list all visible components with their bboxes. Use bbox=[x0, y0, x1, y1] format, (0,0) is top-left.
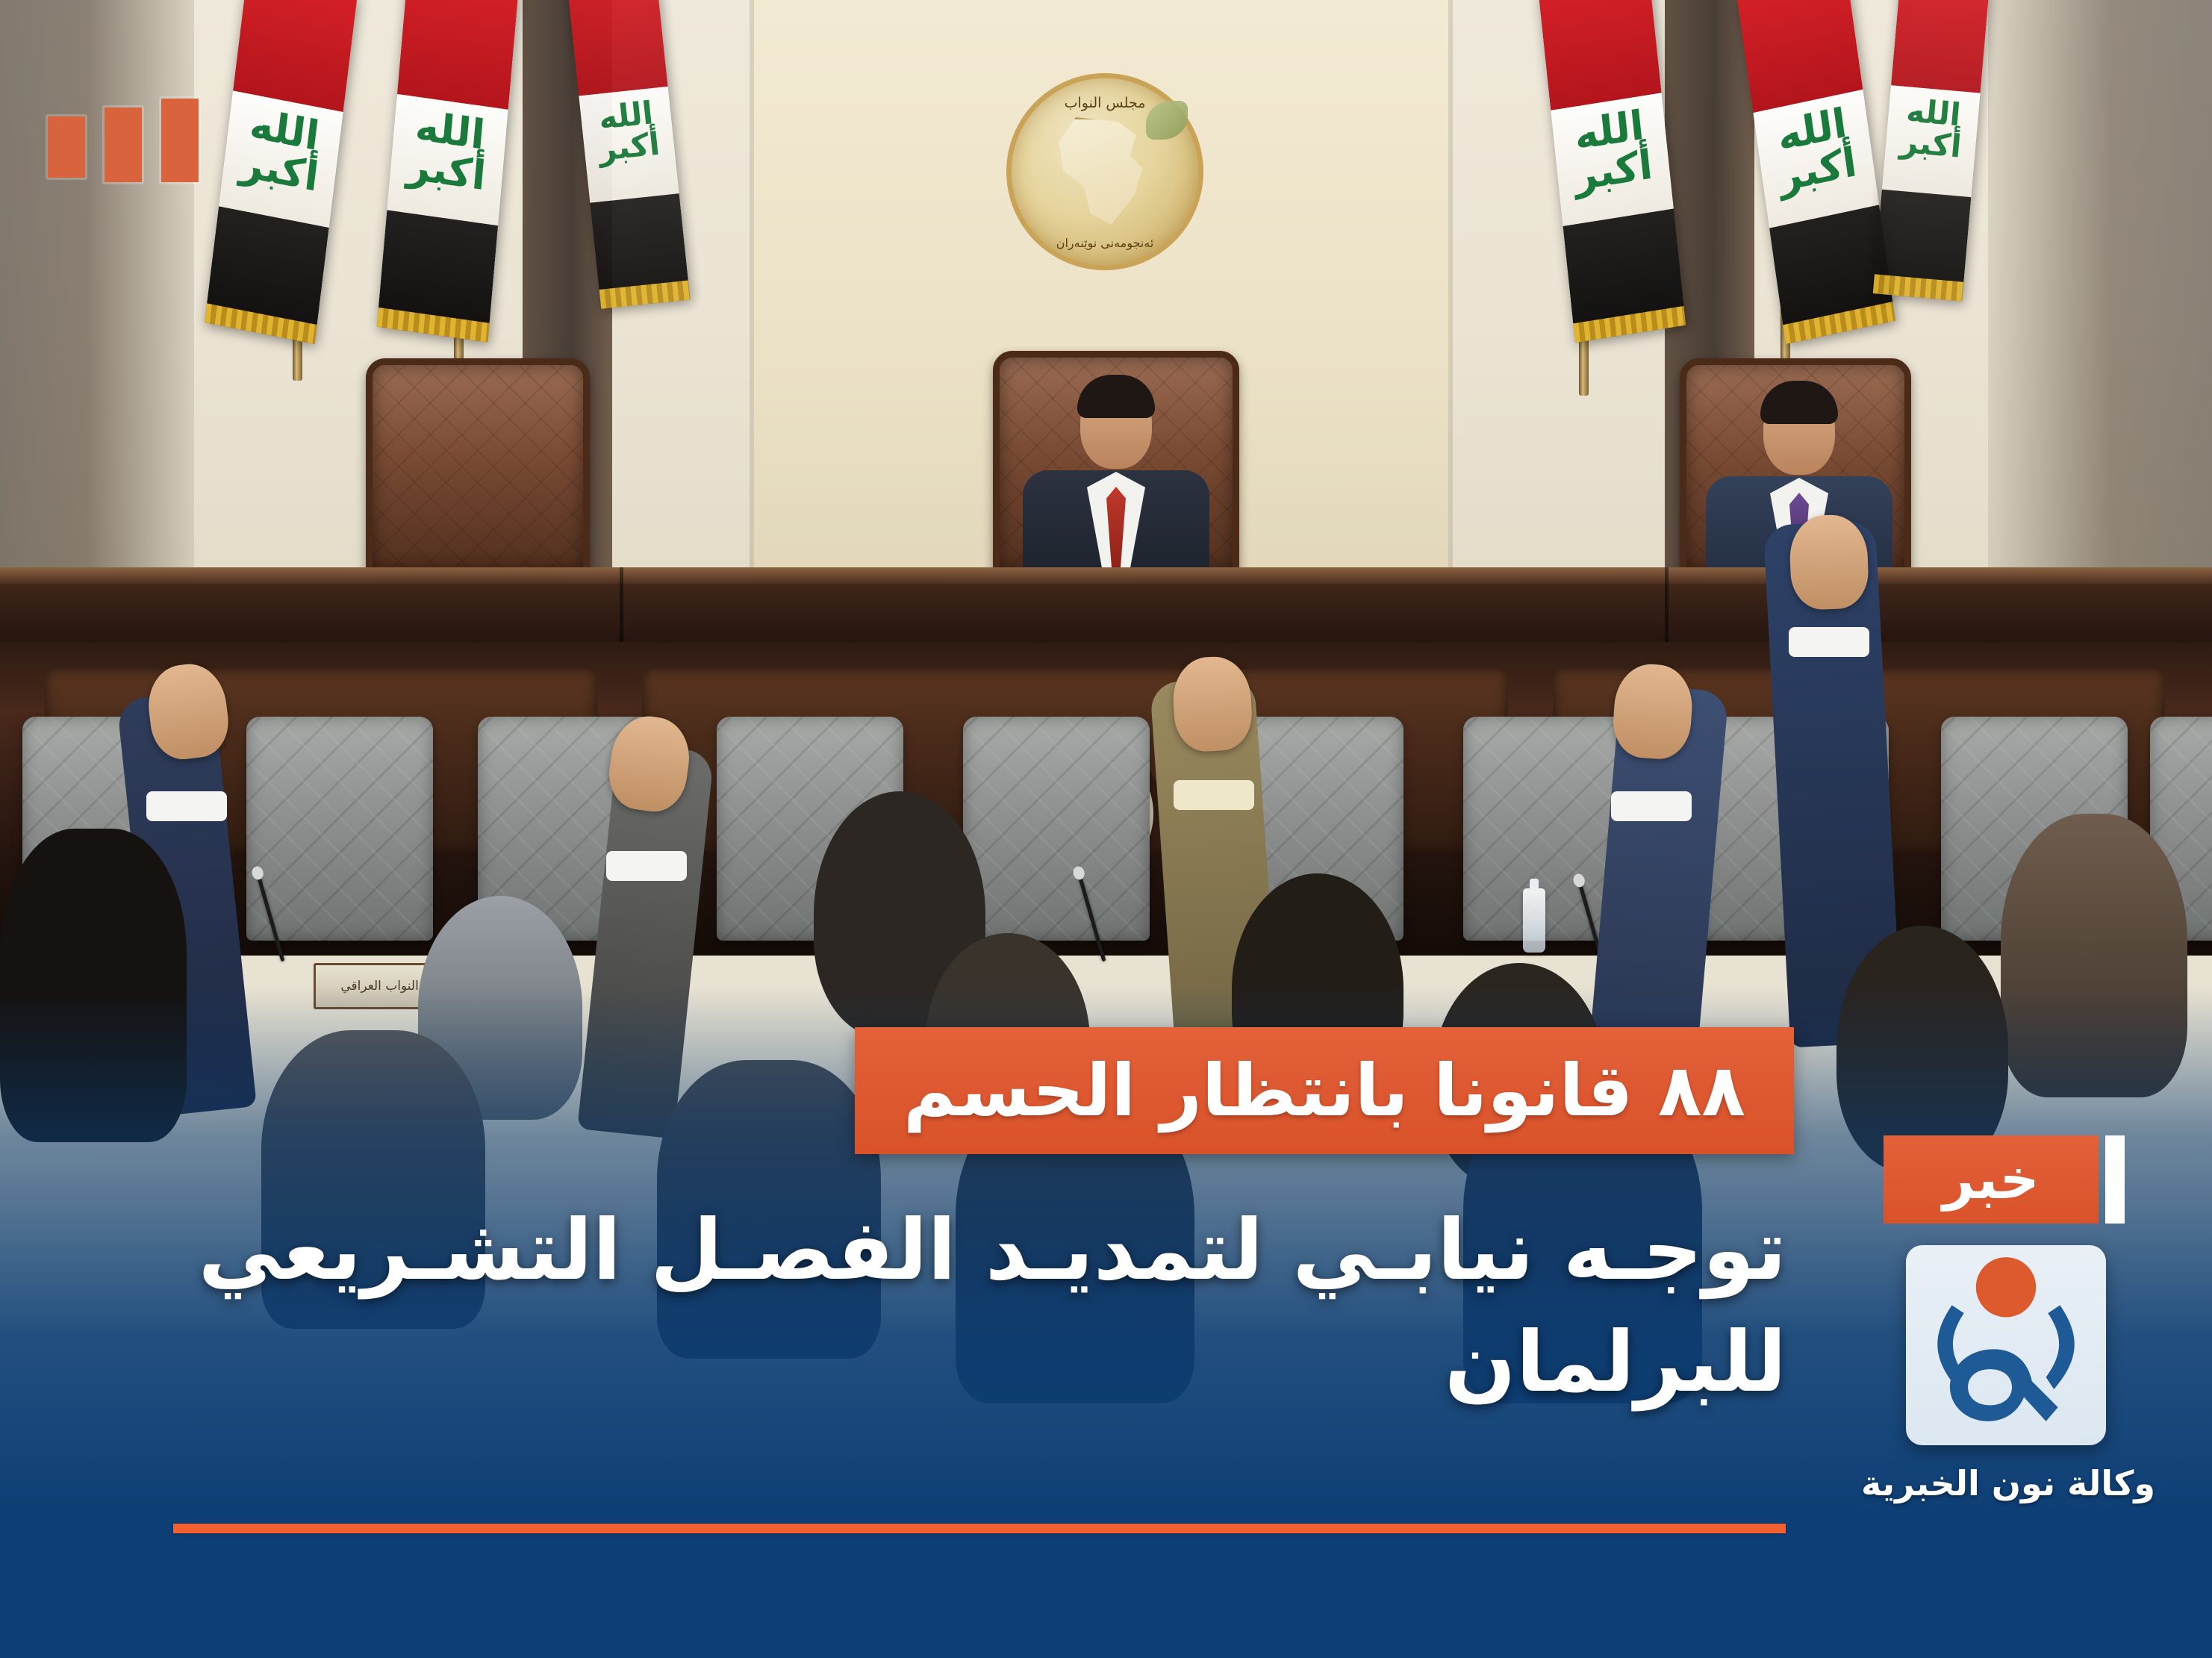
agency-logo bbox=[1906, 1245, 2106, 1445]
agency-name: وكالة نون الخبرية bbox=[1822, 1466, 2195, 1500]
flag-takbir-text: الله أكبر bbox=[1889, 94, 1972, 188]
flag-takbir-text: الله أكبر bbox=[228, 102, 333, 217]
shirt-cuff bbox=[1174, 780, 1254, 810]
speaker-figure bbox=[1019, 358, 1213, 582]
headline-line-1: توجـه نيابـي لتمديـد الفصـل التشـريعي bbox=[174, 1194, 1786, 1306]
news-badge-label: خبر bbox=[1942, 1152, 2040, 1207]
brand-bar-1 bbox=[161, 99, 199, 182]
brand-bar-2 bbox=[105, 107, 142, 182]
bottom-divider bbox=[173, 1524, 1786, 1533]
flag-takbir-text: الله أكبر bbox=[1763, 100, 1869, 217]
logo-orange-circle-icon bbox=[1976, 1257, 2036, 1317]
water-bottle bbox=[1523, 888, 1545, 953]
kicker-banner: ٨٨ قانونا بانتظار الحسم bbox=[855, 1027, 1794, 1154]
noon-logo-icon bbox=[1906, 1245, 2106, 1445]
headline-line-2: للبرلمان bbox=[174, 1306, 1786, 1418]
news-badge-accent-bar bbox=[2105, 1135, 2125, 1224]
flag-takbir-text: الله أكبر bbox=[587, 96, 671, 193]
shirt-cuff bbox=[606, 851, 687, 881]
flag-takbir-text: الله أكبر bbox=[396, 105, 498, 216]
emblem-bottom-text: ئه‌نجومه‌نی نوێنه‌ران bbox=[1012, 236, 1198, 250]
logo-noon-letter-icon bbox=[1950, 1349, 2058, 1421]
brand-bars-mark-icon bbox=[48, 99, 199, 182]
ceremonial-chair bbox=[366, 358, 590, 575]
news-badge: خبر bbox=[1884, 1135, 2099, 1224]
headline: توجـه نيابـي لتمديـد الفصـل التشـريعي لل… bbox=[174, 1194, 1786, 1418]
kicker-text: ٨٨ قانونا بانتظار الحسم bbox=[903, 1055, 1745, 1126]
wall-shadow-left bbox=[0, 0, 194, 590]
raised-hand bbox=[1789, 514, 1869, 611]
shirt-cuff bbox=[1611, 791, 1692, 821]
emblem-iraq-map-icon bbox=[1053, 117, 1157, 229]
news-card: مجلس النواب ئه‌نجومه‌نی نوێنه‌ران الله أ… bbox=[0, 0, 2212, 1658]
parliament-emblem-icon: مجلس النواب ئه‌نجومه‌نی نوێنه‌ران bbox=[1012, 78, 1198, 265]
shirt-cuff bbox=[146, 791, 227, 821]
emblem-top-text: مجلس النواب bbox=[1012, 95, 1198, 111]
flag-takbir-text: الله أكبر bbox=[1560, 103, 1663, 216]
wall-shadow-right bbox=[1988, 0, 2212, 590]
brand-bar-3 bbox=[48, 116, 85, 178]
shirt-cuff bbox=[1789, 627, 1869, 657]
logo-right-arc-icon bbox=[2046, 1305, 2075, 1389]
